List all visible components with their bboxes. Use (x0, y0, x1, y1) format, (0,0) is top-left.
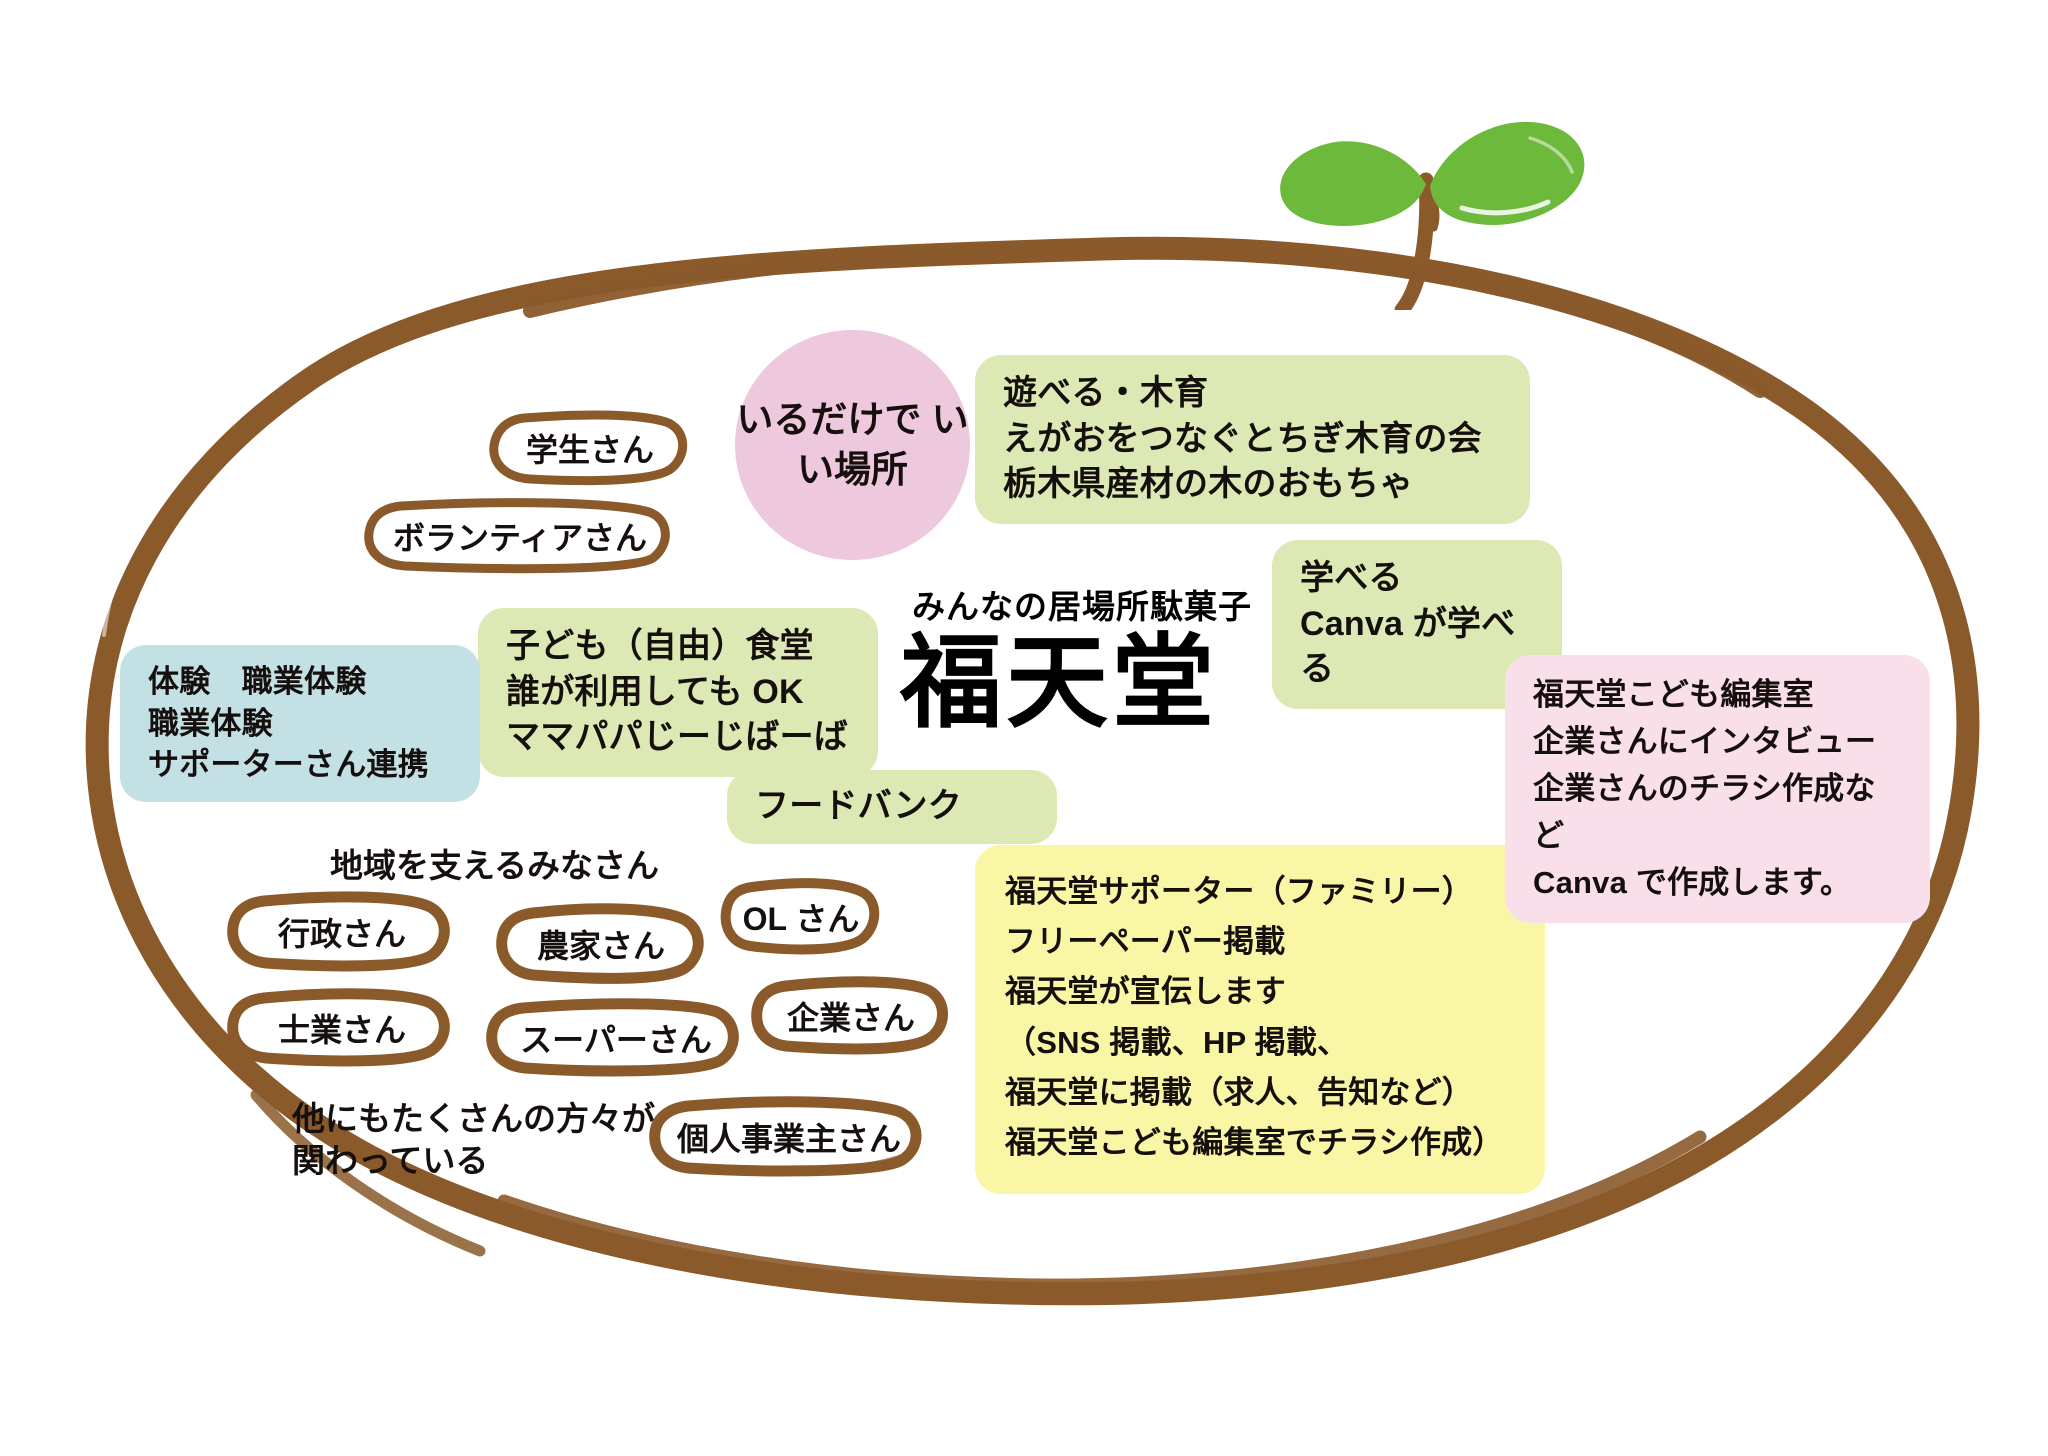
bubble-label: いるだけで いい場所 (735, 395, 970, 496)
title-main: 福天堂 (900, 632, 1252, 734)
page-title: みんなの居場所駄菓子 福天堂 (900, 580, 1252, 734)
infographic-canvas: 遊べる・木育 えがおをつなぐとちぎ木育の会 栃木県産材の木のおもちゃ 学べる C… (0, 0, 2048, 1456)
pill-government: 行政さん (228, 893, 456, 971)
card-supporter-family: 福天堂サポーター（ファミリー） フリーペーパー掲載 福天堂が宣伝します （SNS… (975, 845, 1545, 1194)
label-community-supporters: 地域を支えるみなさん (330, 845, 659, 888)
pill-farmer: 農家さん (497, 905, 705, 983)
pill-label: 個人事業主さん (650, 1098, 928, 1176)
card-kids-editorial-room: 福天堂こども編集室 企業さんにインタビュー 企業さんのチラシ作成など Canva… (1505, 655, 1930, 923)
card-food-bank: フードバンク (727, 770, 1057, 844)
pill-office-worker: OL さん (722, 880, 880, 954)
card-work-experience: 体験 職業体験 職業体験 サポーターさん連携 (120, 645, 480, 802)
bubble-just-being-here: いるだけで いい場所 (735, 330, 970, 560)
pill-volunteer: ボランティアさん (365, 500, 675, 572)
pill-label: ボランティアさん (365, 500, 675, 572)
card-wood-education: 遊べる・木育 えがおをつなぐとちぎ木育の会 栃木県産材の木のおもちゃ (975, 355, 1530, 524)
pill-label: 学生さん (490, 412, 690, 484)
pill-company: 企業さん (752, 978, 950, 1054)
pill-label: スーパーさん (487, 1000, 745, 1076)
pill-label: 企業さん (752, 978, 950, 1054)
pill-student: 学生さん (490, 412, 690, 484)
card-childrens-cafeteria: 子ども（自由）食堂 誰が利用しても OK ママパパじーじばーば (478, 608, 878, 777)
pill-sole-proprietor: 個人事業主さん (650, 1098, 928, 1176)
title-subtitle: みんなの居場所駄菓子 (912, 580, 1252, 628)
label-many-others-involved: 他にもたくさんの方々が 関わっている (292, 1098, 655, 1182)
pill-label: 農家さん (497, 905, 705, 983)
pill-supermarket: スーパーさん (487, 1000, 745, 1076)
pill-label: 士業さん (228, 990, 456, 1066)
pill-professional: 士業さん (228, 990, 456, 1066)
pill-label: OL さん (722, 880, 880, 954)
pill-label: 行政さん (228, 893, 456, 971)
